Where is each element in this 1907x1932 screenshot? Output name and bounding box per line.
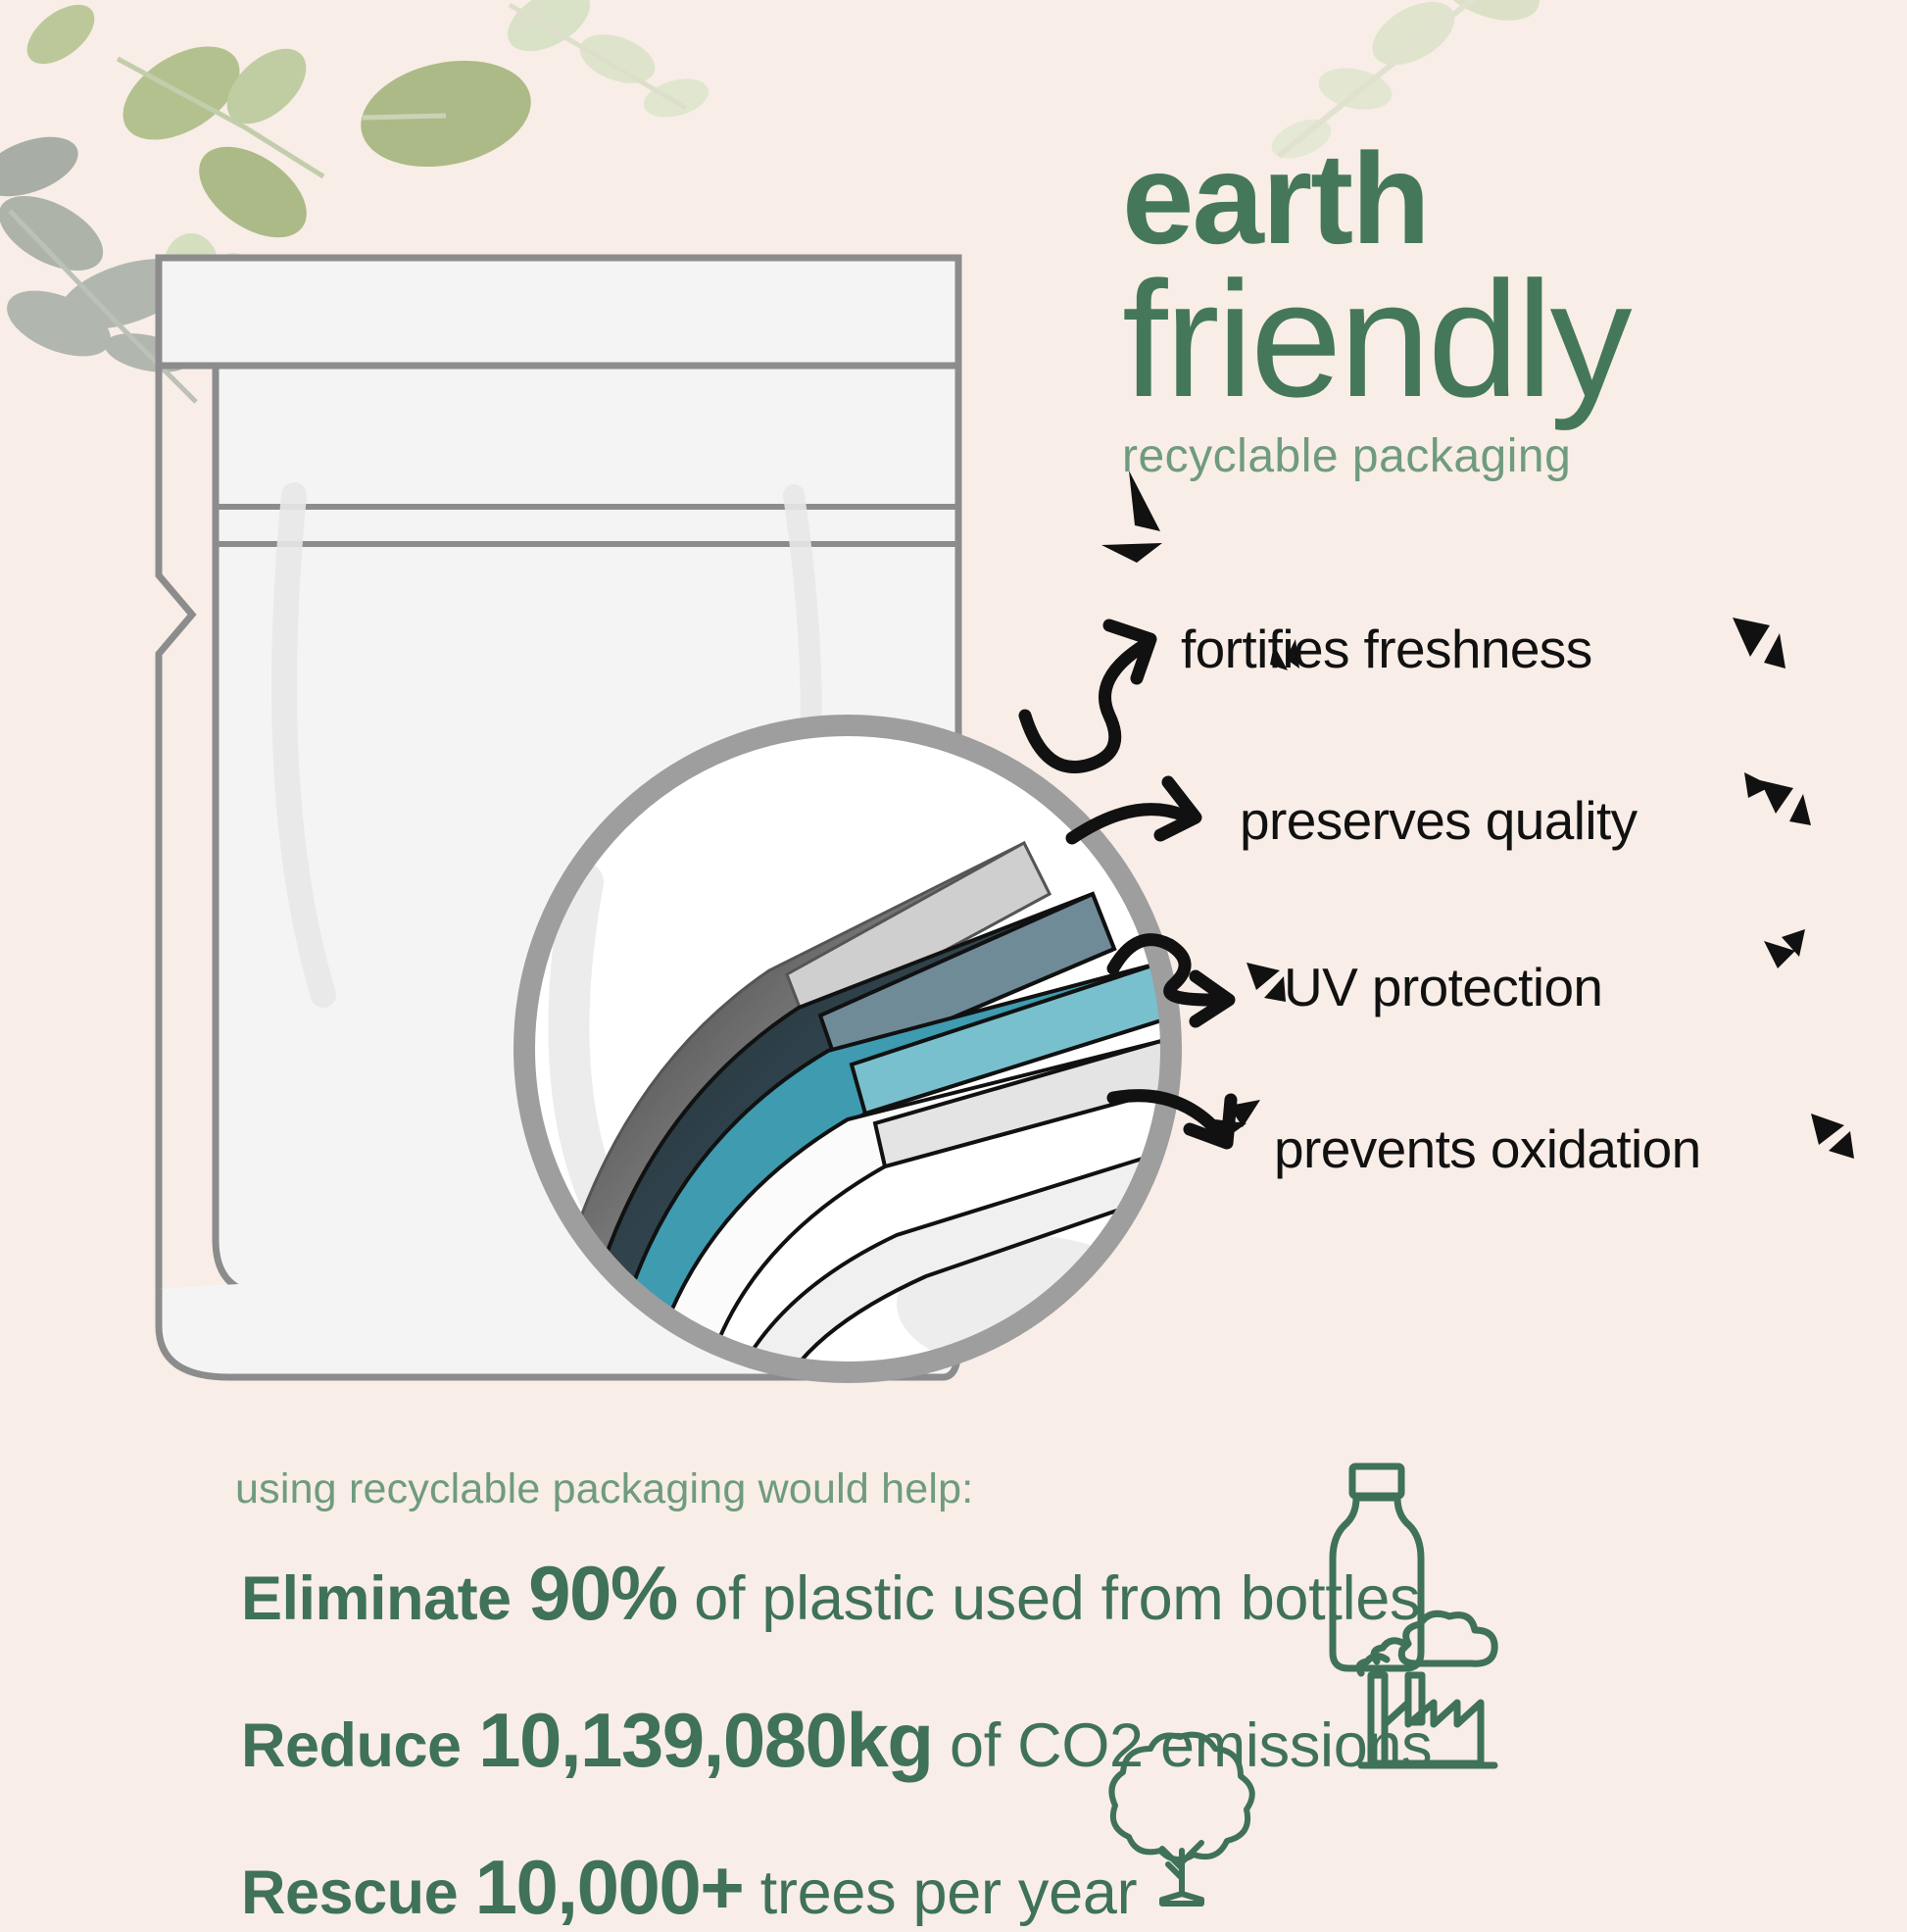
headline-line-2: friendly [1122, 264, 1896, 416]
headline-line-1: earth [1122, 137, 1896, 260]
leaf-icon [1315, 62, 1396, 116]
feature-label-uv-protection: UV protection [1284, 956, 1602, 1018]
spark-icon [1247, 963, 1280, 990]
spark-icon [1829, 1131, 1854, 1159]
stat-value: 10,139,080kg [478, 1697, 932, 1783]
pouch-top-flap [159, 258, 958, 366]
leaf-icon [497, 0, 601, 65]
leaf-icon [214, 34, 320, 138]
spark-icon [1811, 1114, 1844, 1145]
stat-verb: Reduce [241, 1711, 462, 1780]
tear-notch-icon [159, 366, 192, 1289]
stat-tail: trees per year [760, 1858, 1137, 1927]
stem [510, 5, 686, 108]
leaf-icon [17, 0, 105, 75]
smoke-puff [1359, 1656, 1387, 1673]
spark-icon [1101, 543, 1162, 563]
leaf-icon [0, 180, 115, 285]
leaf-icon [573, 25, 661, 93]
stat-verb: Rescue [241, 1858, 458, 1927]
stat-row-rescue: Rescue 10,000+ trees per year [241, 1843, 1137, 1932]
smoke-cloud [1401, 1613, 1494, 1663]
leaf-icon [351, 46, 541, 181]
feature-label-prevents-oxidation: prevents oxidation [1274, 1117, 1701, 1180]
leaf-icon [1426, 0, 1549, 34]
stem [363, 116, 446, 118]
bottle-cap [1352, 1466, 1401, 1496]
tree-canopy [1111, 1735, 1251, 1859]
spark-icon [1764, 633, 1785, 669]
feature-label-preserves-quality: preserves quality [1240, 789, 1638, 852]
feature-label-fortifies-freshness: fortifies freshness [1181, 618, 1592, 680]
stat-row-eliminate: Eliminate 90% of plastic used from bottl… [241, 1549, 1420, 1638]
leaf-icon [107, 27, 256, 159]
infographic-canvas: earth friendly recyclable packaging fort… [0, 0, 1907, 1908]
leaf-icon [0, 125, 86, 208]
headline-subtitle: recyclable packaging [1122, 429, 1896, 483]
spark-icon [1789, 794, 1811, 825]
tree-icon [1098, 1725, 1274, 1907]
stat-verb: Eliminate [241, 1564, 512, 1633]
leaf-icon [1362, 0, 1466, 78]
stat-value: 10,000+ [475, 1844, 744, 1930]
headline-block: earth friendly recyclable packaging [1122, 137, 1896, 483]
stem [118, 59, 323, 176]
stats-lead-text: using recyclable packaging would help: [235, 1465, 973, 1513]
stat-tail: of plastic used from bottles [694, 1564, 1420, 1633]
factory-roof [1385, 1703, 1481, 1763]
spark-icon [1733, 618, 1770, 657]
leaf-icon [0, 277, 120, 370]
stat-value: 90% [528, 1550, 677, 1636]
leaf-icon [639, 73, 712, 124]
factory-icon [1347, 1603, 1534, 1789]
leaf-icon [183, 128, 323, 256]
